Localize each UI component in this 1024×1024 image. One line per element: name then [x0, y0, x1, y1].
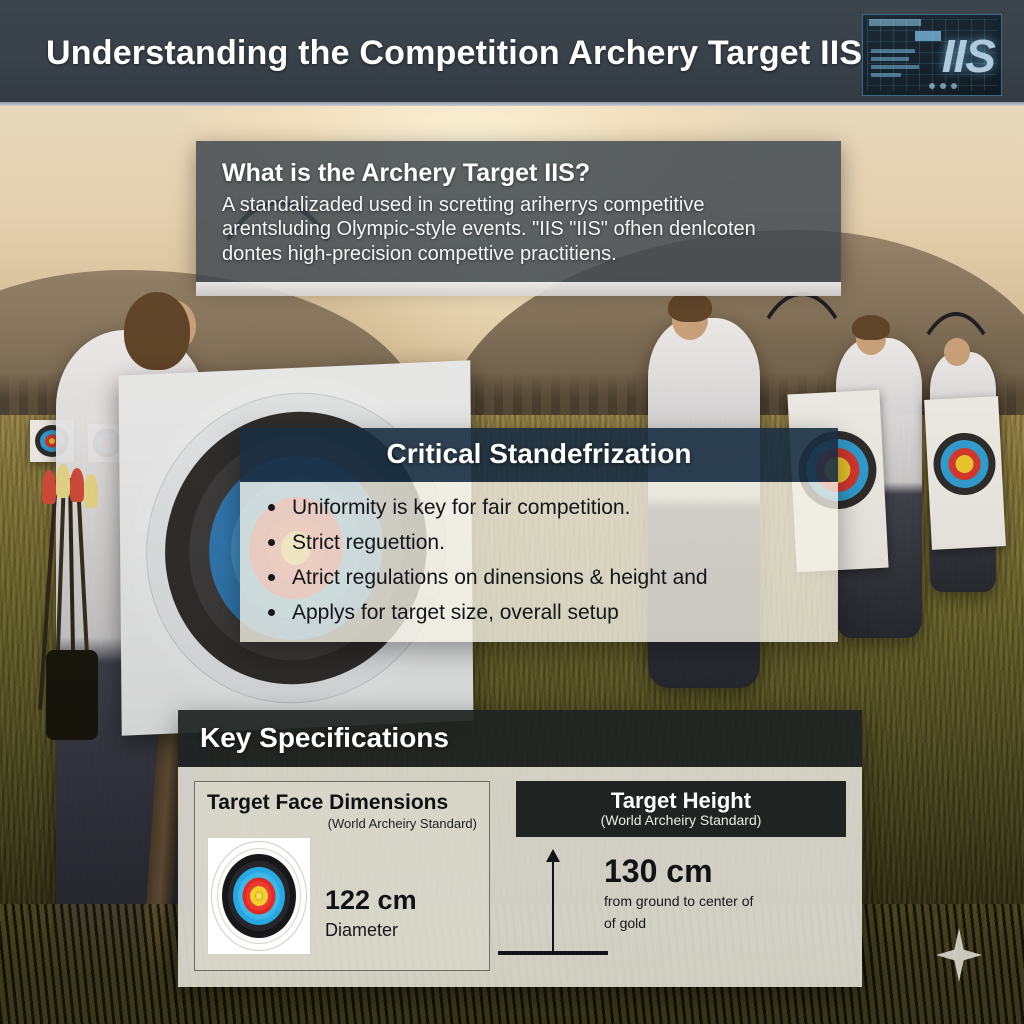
intro-heading: What is the Archery Target IIS? [222, 159, 815, 188]
intro-body: A standalizaded used in scretting ariher… [222, 193, 815, 266]
bullet-text: Uniformity is key for fair competition. [292, 496, 630, 519]
target-face-standard-note: (World Archeiry Standard) [207, 816, 477, 831]
ground-baseline-icon [498, 951, 608, 955]
bullet-text: Atrict regulations on dinensions & heigh… [292, 566, 708, 589]
bullet-text: Applys for target size, overall setup [292, 601, 619, 624]
critical-bullet-list: Uniformity is key for fair competition. … [266, 496, 812, 624]
target-ring-gold-center [255, 892, 263, 901]
page-title: Understanding the Competition Archery Ta… [46, 34, 883, 73]
specs-heading: Key Specifications [200, 722, 862, 754]
logo-title-tag [869, 19, 921, 26]
logo-bar-3 [871, 65, 919, 69]
target-height-values: 130 cm from ground to center of of gold [604, 855, 753, 932]
target-face-thumbnail [207, 837, 311, 955]
intro-card-footer-strip [196, 282, 841, 296]
target-face-values: 122 cm Diameter [325, 886, 417, 955]
critical-heading: Critical Standefrization [240, 438, 838, 470]
list-item: Applys for target size, overall setup [266, 601, 812, 624]
critical-card-body: Uniformity is key for fair competition. … [240, 482, 838, 642]
archer-4-head [944, 338, 970, 366]
critical-standardization-card: Critical Standefrization Uniformity is k… [240, 428, 838, 642]
target-face-title: Target Face Dimensions [207, 792, 477, 814]
target-face-value: 122 cm [325, 886, 417, 916]
list-item: Strict reguettion. [266, 531, 812, 554]
target-height-value: 130 cm [604, 855, 753, 889]
logo-bar-4 [871, 73, 901, 77]
iis-logo-panel: IIS [862, 14, 1002, 96]
target-face-row: 122 cm Diameter [207, 837, 477, 955]
archer-3-hair [852, 315, 890, 340]
bullet-dot-icon [268, 504, 275, 511]
target-height-standard-note: (World Archeiry Standard) [516, 812, 846, 828]
intro-card: What is the Archery Target IIS? A standa… [196, 141, 841, 282]
target-height-title: Target Height [516, 789, 846, 812]
list-item: Uniformity is key for fair competition. [266, 496, 812, 519]
list-item: Atrict regulations on dinensions & heigh… [266, 566, 812, 589]
arrow-quiver [40, 470, 106, 720]
bullet-text: Strict reguettion. [292, 531, 445, 554]
up-arrow-icon [552, 851, 554, 951]
header-bar: Understanding the Competition Archery Ta… [0, 0, 1024, 106]
bullet-dot-icon [268, 609, 275, 616]
logo-bar-2 [871, 57, 909, 61]
target-height-measure: 130 cm from ground to center of of gold [516, 851, 846, 971]
critical-card-header: Critical Standefrization [240, 428, 838, 482]
logo-bar-1 [871, 49, 915, 53]
bullet-dot-icon [268, 539, 275, 546]
logo-highlight-chip [915, 31, 941, 41]
target-height-note-line2: of gold [604, 914, 753, 933]
key-specifications-card: Key Specifications Target Face Dimension… [178, 710, 862, 987]
logo-wordmark: IIS [942, 19, 995, 93]
target-face-dimensions-panel: Target Face Dimensions (World Archeiry S… [194, 781, 490, 971]
target-height-note-line1: from ground to center of [604, 892, 753, 911]
target-face-caption: Diameter [325, 920, 417, 941]
archer-1-hair [124, 292, 190, 370]
specs-card-header: Key Specifications [178, 710, 862, 767]
target-height-panel: Target Height (World Archeiry Standard) … [516, 781, 846, 971]
bullet-dot-icon [268, 574, 275, 581]
archer-2-hair [668, 292, 712, 322]
target-height-header: Target Height (World Archeiry Standard) [516, 781, 846, 837]
specs-card-body: Target Face Dimensions (World Archeiry S… [178, 767, 862, 987]
infographic-poster: Understanding the Competition Archery Ta… [0, 0, 1024, 1024]
range-target-2 [924, 396, 1006, 550]
logo-indicator-dots [929, 83, 957, 89]
